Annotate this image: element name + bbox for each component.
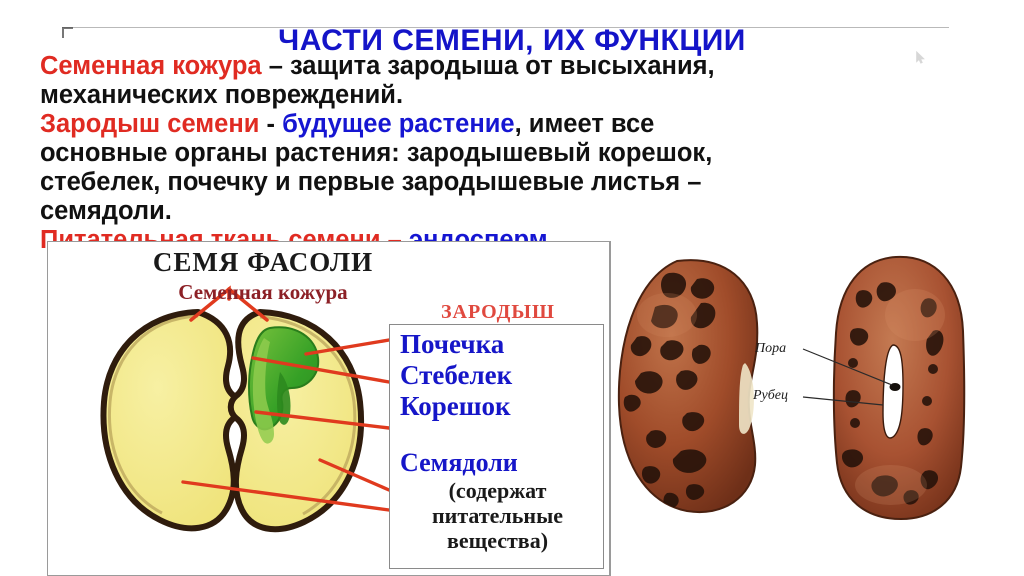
slide-canvas: ЧАСТИ СЕМЕНИ, ИХ ФУНКЦИИ Семенная кожура… (0, 0, 1024, 574)
bean-whole-view (619, 260, 757, 512)
bean-seed-diagram: СЕМЯ ФАСОЛИ Семенная кожура ЗАРОДЫШ Поче… (47, 241, 611, 576)
text-line-4: основные органы растения: зародышевый ко… (40, 139, 1000, 168)
text-line-5: стебелек, почечку и первые зародышевые л… (40, 168, 1000, 197)
bean-hilum-view (834, 257, 964, 519)
term-future-plant: будущее растение (282, 110, 514, 138)
text-line-3: Зародыш семени - будущее растение, имеет… (40, 110, 1000, 139)
text-line-3-rest: , имеет все (515, 110, 655, 138)
term-seed-coat: Семенная кожура (40, 52, 262, 80)
label-cotyledons-note-2: питательные (400, 503, 603, 528)
lesson-text-block: Семенная кожура – защита зародыша от выс… (40, 52, 1000, 255)
diagram-title: СЕМЯ ФАСОЛИ (48, 247, 478, 278)
label-cotyledons-note-1: (содержат (400, 478, 603, 503)
label-radicle: Корешок (400, 391, 603, 422)
diagram-embryo-header: ЗАРОДЫШ (388, 301, 608, 324)
bean-label-pore: Пора (755, 341, 786, 357)
text-line-6: семядоли. (40, 197, 1000, 226)
bean-label-scar: Рубец (753, 388, 788, 404)
bean-photographs: Пора Рубец (615, 245, 1024, 545)
text-line-2: механических повреждений. (40, 81, 1000, 110)
text-line-1: Семенная кожура – защита зародыша от выс… (40, 52, 1000, 81)
cotyledon-left (103, 312, 239, 528)
label-cotyledons: Семядоли (400, 448, 603, 478)
text-line-3-dash: - (259, 110, 282, 138)
label-plumule: Почечка (400, 329, 603, 360)
label-hypocotyl: Стебелек (400, 360, 603, 391)
bean-photo-illustration (615, 245, 1024, 545)
term-embryo: Зародыш семени (40, 110, 259, 138)
diagram-label-box: Почечка Стебелек Корешок Семядоли (содер… (389, 324, 604, 569)
text-line-1-rest: – защита зародыша от высыхания, (262, 52, 715, 80)
label-cotyledons-note-3: вещества) (400, 528, 603, 553)
